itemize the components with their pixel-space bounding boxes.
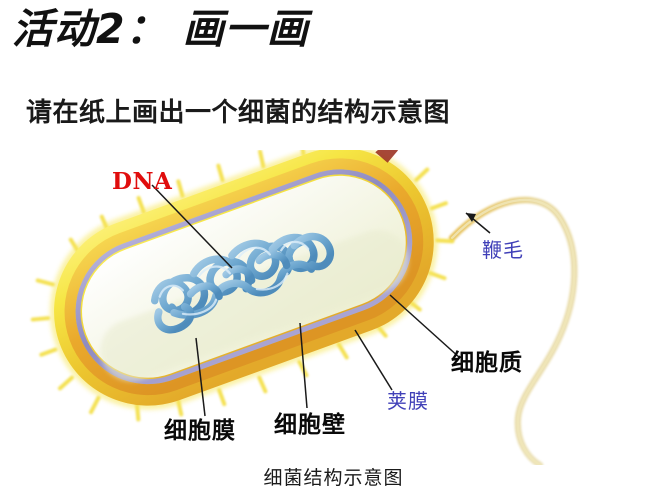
label-dna: DNA [112, 170, 172, 193]
slide-subtitle: 请在纸上画出一个细菌的结构示意图 [26, 92, 450, 129]
leader-cytoplasm [390, 295, 460, 358]
slide-canvas: 活动2： 画一画 请在纸上画出一个细菌的结构示意图 [0, 0, 667, 500]
label-cell-membrane: 细胞膜 [164, 420, 236, 443]
label-capsule: 荚膜 [387, 391, 429, 411]
label-flagellum: 鞭毛 [482, 240, 524, 260]
page-title: 活动2： 画一画 [12, 6, 432, 53]
label-cytoplasm: 细胞质 [451, 352, 523, 375]
label-cell-wall: 细胞壁 [274, 414, 346, 437]
leader-capsule [355, 330, 392, 390]
figure-caption: 细菌结构示意图 [0, 463, 667, 490]
